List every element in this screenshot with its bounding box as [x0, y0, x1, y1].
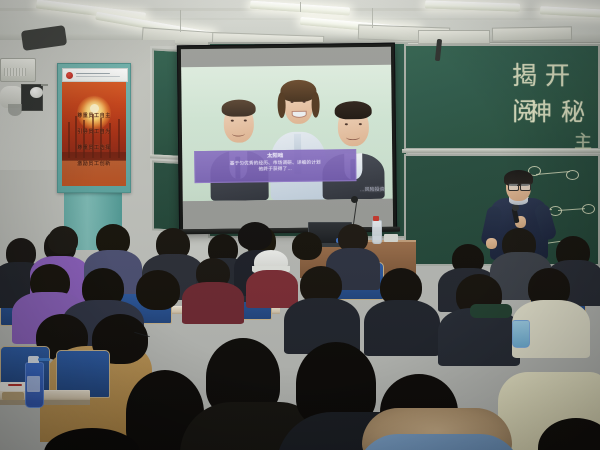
audience-body-red [246, 270, 298, 308]
camera-arm [41, 84, 48, 86]
security-camera [30, 87, 43, 98]
mic-head-icon [351, 196, 358, 203]
poster-header-subtitle [76, 76, 120, 77]
audience-head [48, 226, 78, 254]
audience-head [136, 270, 180, 310]
poster-artwork: 尊重员工自主 引导员工自为 尊重员工选择 激励员工创新 [62, 82, 126, 186]
audience-bottle [512, 320, 530, 348]
glasses-icon [520, 183, 531, 191]
glasses-bridge [517, 185, 520, 186]
poster-slogan-2: 引导员工自为 [62, 128, 126, 135]
projection-screen: 太阳咄 基于匀优秀的经历、市场调研、详细的计划 他终于获得了… …风险投资 [177, 43, 397, 234]
bottle-cap [373, 216, 379, 221]
ceiling-projector [0, 58, 36, 82]
green-scarf [470, 304, 512, 318]
slide-content: 太阳咄 基于匀优秀的经历、市场调研、详细的计划 他终于获得了… …风险投资 [181, 65, 393, 202]
poster-slogan-1: 尊重员工自主 [62, 112, 126, 119]
person-hair-side [277, 92, 285, 118]
person-hair-side [311, 92, 319, 118]
screen-surface: 太阳咄 基于匀优秀的经历、市场调研、详细的计划 他终于获得了… …风险投资 [181, 47, 393, 230]
person-hair [335, 101, 372, 119]
projector-vent [4, 68, 26, 76]
person-eye [291, 101, 294, 103]
light-hanger [300, 2, 301, 12]
chalkboard-right-upper: 揭开阅 神秘 主 [404, 44, 600, 150]
mic-head-icon [512, 204, 519, 211]
slide-person-left [209, 94, 268, 201]
slide-caption-box: 太阳咄 基于匀优秀的经历、市场调研、详细的计划 他终于获得了… [194, 149, 356, 183]
desk-edge [0, 400, 90, 405]
audience-beanie [238, 222, 272, 250]
lecture-hall-photo: 尊重员工自主 引导员工自为 尊重员工选择 激励员工创新 揭开阅 神秘 主 [0, 0, 600, 450]
bottle-label [27, 376, 40, 392]
poster-slogan-3: 尊重员工选择 [62, 144, 126, 151]
bottle-handle [38, 358, 50, 361]
audience-body [364, 300, 440, 356]
corporate-culture-poster: 尊重员工自主 引导员工自为 尊重员工选择 激励员工创新 [57, 63, 131, 193]
light-hanger [180, 10, 181, 32]
person-eye [231, 120, 234, 122]
ceiling-pipe-2 [120, 18, 600, 20]
student-audience [0, 222, 600, 450]
poster-header-title [76, 73, 110, 74]
wall-bracket [8, 104, 22, 116]
diagram-edge [558, 208, 585, 211]
poster-slogan-4: 激励员工创新 [62, 160, 126, 167]
chalk-text-line-2: 神秘 [528, 92, 594, 127]
slide-corner-text: …风险投资 [360, 186, 385, 193]
person-eye [359, 123, 362, 125]
pen [8, 384, 22, 386]
poster-header [62, 68, 128, 82]
snack [2, 392, 24, 400]
light-housing [418, 30, 490, 44]
person-hair [222, 99, 256, 116]
audience-body-red [182, 282, 244, 324]
person-eye [345, 123, 348, 125]
audience-head [292, 232, 322, 260]
company-logo-icon [66, 72, 73, 79]
light-hanger [372, 8, 373, 28]
light-housing [492, 26, 572, 41]
person-eye [303, 101, 306, 103]
person-eye [244, 119, 247, 121]
slide-caption-line-2: 他终于获得了… [195, 165, 355, 173]
chalk-rail-right [402, 149, 600, 153]
